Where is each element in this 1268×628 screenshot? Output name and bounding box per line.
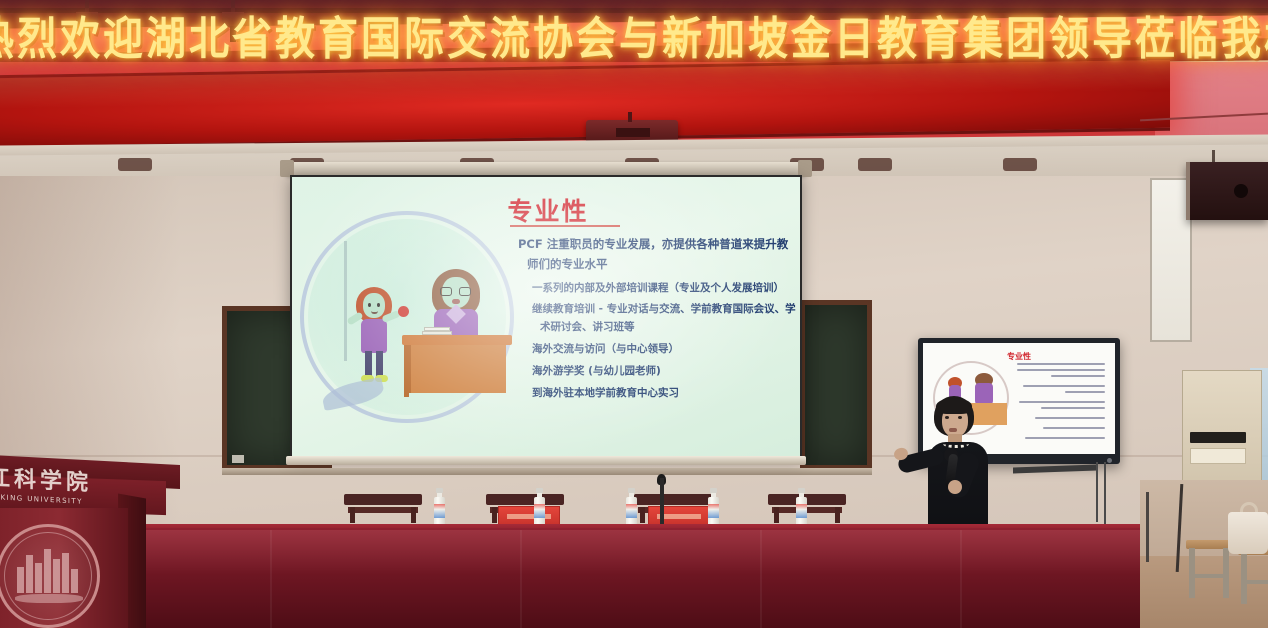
stool bbox=[1186, 540, 1232, 600]
projected-slide: 专业性 PCF 注重职员的专业发展，亦提供各种普道来提升教师们的专业水平 一系列… bbox=[292, 177, 800, 456]
water-bottle bbox=[708, 488, 719, 528]
wall-medallion bbox=[1003, 158, 1037, 171]
chalk-tray bbox=[222, 468, 872, 475]
slide-title-underline bbox=[510, 225, 620, 227]
wall-medallion bbox=[118, 158, 152, 171]
lecture-hall-photo: 热烈欢迎湖北省教育国际交流协会与新加坡金日教育集团领导莅临我校指导 bbox=[0, 0, 1268, 628]
slide-body: PCF 注重职员的专业发展，亦提供各种普道来提升教师们的专业水平 一系列的内部及… bbox=[518, 235, 796, 407]
chalkboard-right bbox=[800, 300, 872, 470]
cartoon-desk bbox=[408, 345, 506, 393]
av-device-slot[interactable] bbox=[1190, 432, 1246, 443]
slide-bullet-level1: PCF 注重职员的专业发展，亦提供各种普道来提升教师们的专业水平 bbox=[518, 235, 796, 275]
slide-swoosh bbox=[320, 377, 385, 411]
water-bottle bbox=[434, 488, 445, 528]
apple-icon bbox=[398, 306, 409, 317]
cartoon-child-face bbox=[363, 293, 385, 318]
banner-wall-right bbox=[1155, 62, 1268, 142]
glasses-icon bbox=[440, 287, 472, 296]
presenter-hand-right bbox=[948, 480, 962, 494]
projector-mount bbox=[628, 112, 632, 122]
banner-glow bbox=[0, 60, 1170, 147]
pearl-necklace bbox=[943, 440, 969, 448]
banner-text: 热烈欢迎湖北省教育国际交流协会与新加坡金日教育集团领导莅临我校指导 bbox=[0, 3, 1184, 68]
table-highlight bbox=[0, 530, 1140, 574]
projection-screen: 专业性 PCF 注重职员的专业发展，亦提供各种普道来提升教师们的专业水平 一系列… bbox=[290, 175, 802, 458]
chair bbox=[768, 494, 846, 520]
tv-brand-logo bbox=[1107, 458, 1112, 463]
tv-cable bbox=[1104, 462, 1106, 526]
slide-illustration bbox=[316, 235, 506, 415]
screen-roller[interactable] bbox=[286, 162, 806, 175]
table-microphone-stand bbox=[660, 478, 664, 530]
av-cabinet bbox=[1182, 370, 1262, 486]
wall-speaker bbox=[1186, 162, 1268, 220]
name-card bbox=[498, 506, 560, 526]
stool bbox=[1238, 546, 1268, 606]
chalk-eraser bbox=[232, 455, 244, 463]
tv-slide-title: 专业性 bbox=[923, 351, 1115, 362]
slide-bullet-level2: 海外交流与访问（与中心领导） bbox=[532, 341, 796, 359]
wall-medallion bbox=[858, 158, 892, 171]
av-device-panel[interactable] bbox=[1190, 448, 1246, 464]
cartoon-desk-top bbox=[402, 335, 512, 345]
podium-institution-text: 江科学院 GEKING UNIVERSITY bbox=[0, 460, 148, 509]
tv-cable bbox=[1096, 462, 1098, 522]
emblem-inner-ring bbox=[4, 532, 92, 620]
water-bottle bbox=[534, 488, 545, 528]
water-bottle bbox=[626, 488, 637, 528]
slide-title: 专业性 bbox=[292, 192, 802, 228]
handbag bbox=[1228, 512, 1268, 554]
floor-cable bbox=[1146, 492, 1149, 562]
screen-bottom-bar[interactable] bbox=[286, 456, 806, 465]
slide-bullet-level2: 海外游学奖 (与幼儿园老师) bbox=[532, 363, 796, 381]
water-bottle bbox=[796, 488, 807, 528]
slide-bullet-level2: 一系列的内部及外部培训课程（专业及个人发展培训） bbox=[532, 280, 796, 298]
slide-bullet-level2: 继续教育培训 - 专业对话与交流、学前教育国际会议、学术研讨会、讲习班等 bbox=[532, 301, 796, 337]
cartoon-child-body bbox=[361, 319, 387, 353]
name-card bbox=[648, 506, 710, 526]
chair bbox=[344, 494, 422, 520]
speaker-cone-icon bbox=[1234, 184, 1248, 198]
book-icon bbox=[424, 327, 450, 331]
slide-bullet-level2: 到海外驻本地学前教育中心实习 bbox=[532, 385, 796, 403]
